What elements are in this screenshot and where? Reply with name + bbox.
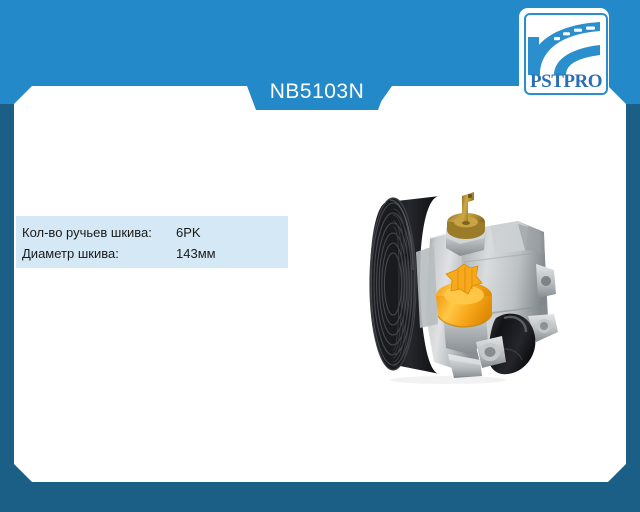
logo-wordmark: PSTPRO [526, 72, 606, 92]
product-image [368, 166, 568, 386]
spec-row-diameter: Диаметр шкива:143мм [22, 243, 288, 264]
specifications-box: Кол-во ручьев шкива:6PK Диаметр шкива:14… [16, 216, 288, 268]
product-shadow [390, 376, 506, 384]
spec-label-grooves: Кол-во ручьев шкива: [22, 222, 176, 243]
spec-value-grooves: 6PK [176, 222, 201, 243]
pressure-switch-group [446, 192, 486, 256]
mounting-bolt-hole [541, 276, 551, 286]
brand-logo[interactable]: PSTPRO [519, 8, 609, 96]
spec-row-grooves: Кол-во ручьев шкива:6PK [22, 222, 288, 243]
product-card-page: NB5103N PSTPRO [0, 0, 640, 512]
power-steering-pump-illustration [368, 166, 568, 386]
spec-value-diameter: 143мм [176, 243, 216, 264]
spec-label-diameter: Диаметр шкива: [22, 243, 176, 264]
logo-frame: PSTPRO [524, 13, 608, 95]
bolt-socket [540, 322, 548, 330]
page-title: NB5103N [244, 78, 390, 106]
